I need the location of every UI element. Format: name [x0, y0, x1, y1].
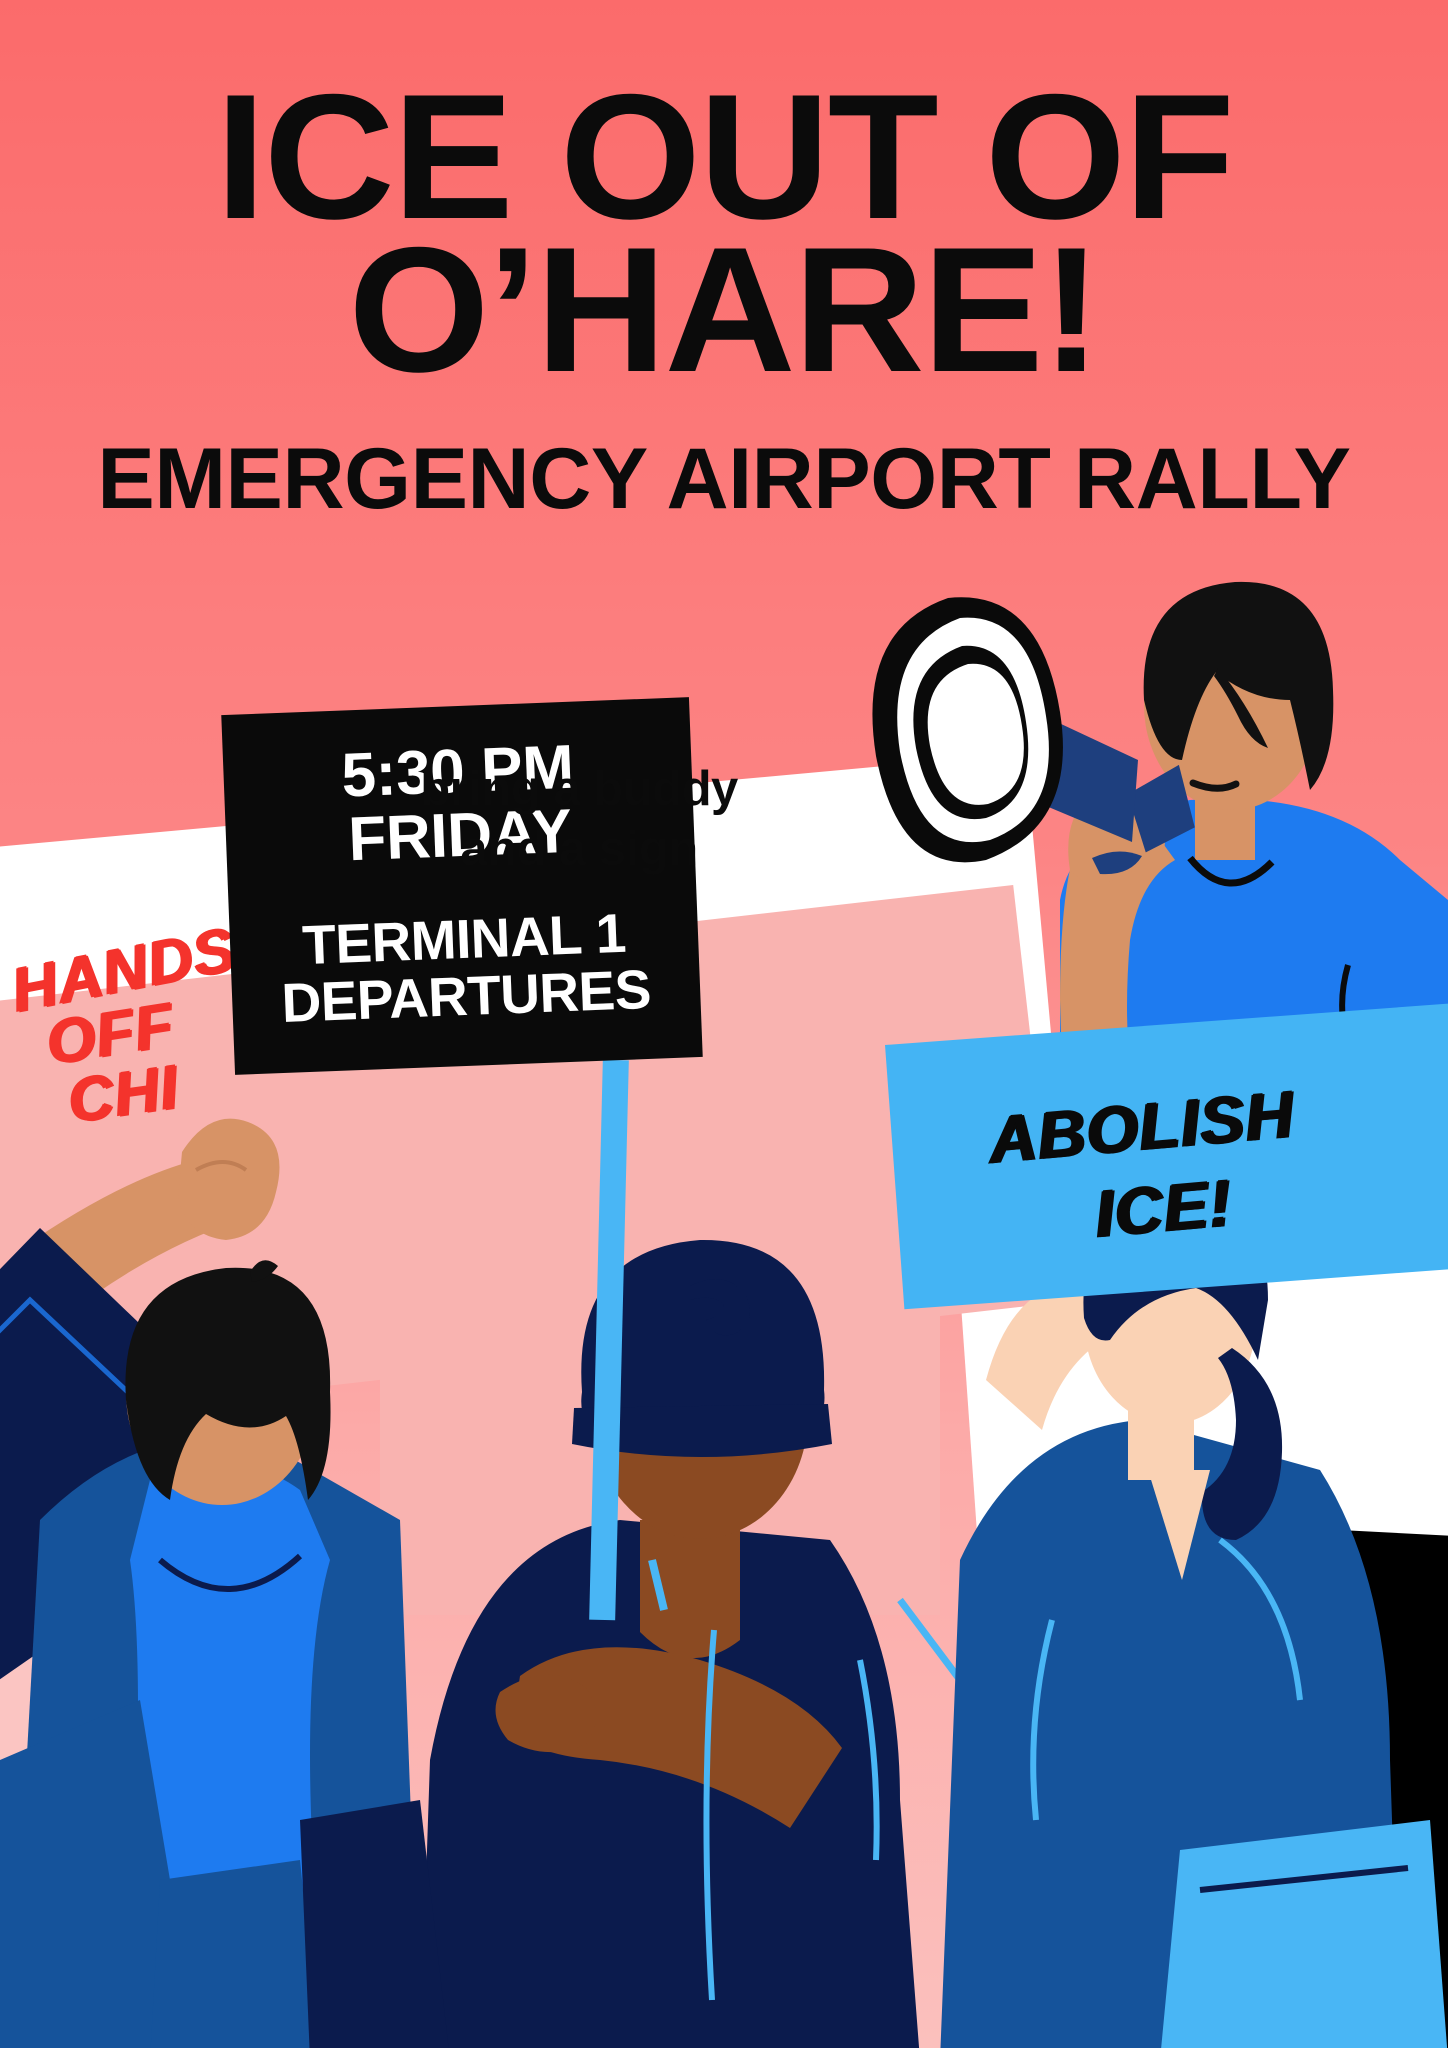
- bucket-hat-protester-hand: [496, 1675, 597, 1752]
- raised-fist: [178, 1119, 280, 1240]
- protest-rally-poster: ABOLISH ICE! HANDS OFF CHI ICE OUT OF O’…: [0, 0, 1448, 2048]
- jacket-seam-line: [900, 1600, 960, 1680]
- event-details-card: 5:30 PM FRIDAY TERMINAL 1 DEPARTURES: [221, 697, 702, 1075]
- poster-tagline: bring a buddy and a sign: [0, 760, 1448, 880]
- left-figure-leg: [150, 1860, 320, 2048]
- tagline-line-1: bring a buddy: [420, 762, 738, 816]
- ponytail-protester-lower: [1160, 1820, 1448, 2048]
- tagline-line-2: and a sign: [460, 822, 697, 876]
- event-location-block: TERMINAL 1 DEPARTURES: [278, 904, 652, 1034]
- event-location-line-2: DEPARTURES: [281, 961, 652, 1033]
